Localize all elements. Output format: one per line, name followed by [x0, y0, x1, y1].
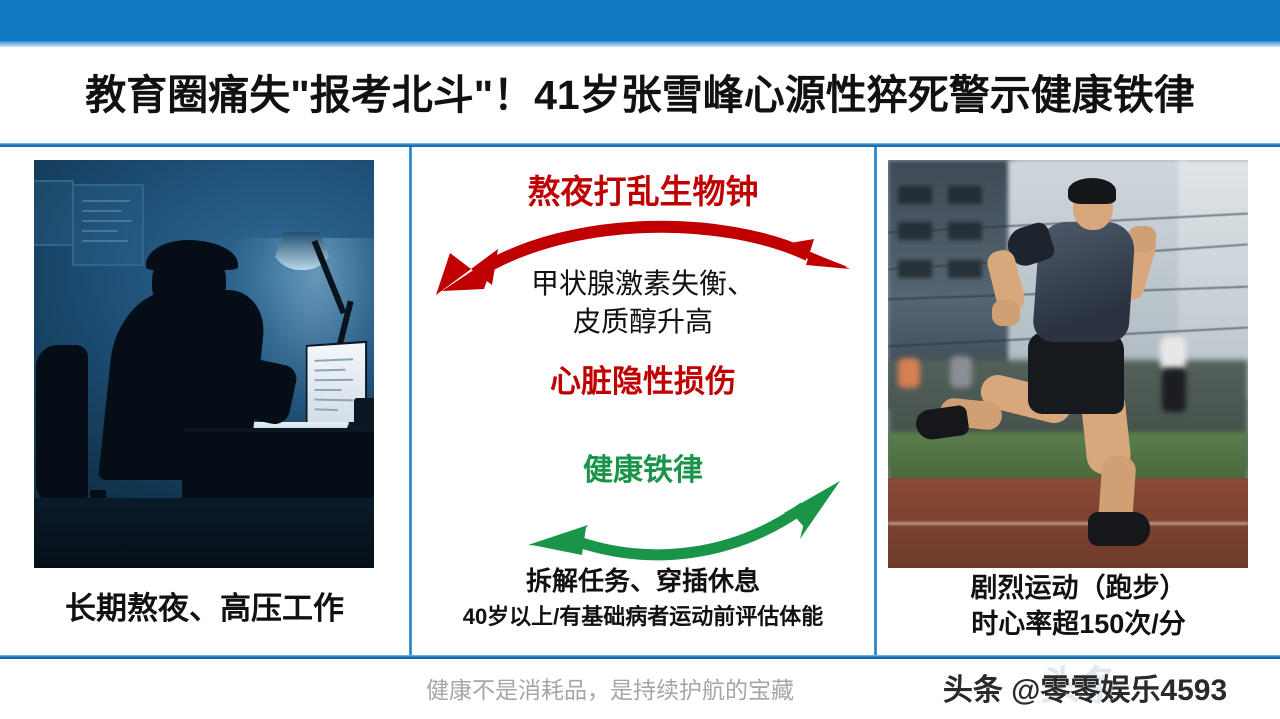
middle-black-note: 甲状腺激素失衡、 皮质醇升高 — [412, 265, 874, 341]
runner-shorts — [1028, 332, 1124, 414]
wall-picture-frame — [72, 184, 144, 266]
panel-middle-diagram: 熬夜打乱生物钟 甲状腺激素失衡、 皮质醇升高 心脏隐性损伤 健康铁律 拆解任务、… — [412, 147, 874, 657]
background-runner — [950, 356, 972, 388]
background-runner — [898, 358, 920, 388]
background-runner — [1160, 336, 1186, 370]
panel-right-exercise: 剧烈运动（跑步） 时心率超150次/分 — [877, 147, 1280, 657]
track-lane-line — [888, 522, 1248, 525]
caption-right-panel: 剧烈运动（跑步） 时心率超150次/分 — [877, 571, 1280, 642]
middle-black-note-line1: 甲状腺激素失衡、 — [412, 265, 874, 303]
content-area: 长期熬夜、高压工作 熬夜打乱生物钟 甲状腺激素失衡、 皮质醇升高 心脏隐性损伤 … — [0, 147, 1280, 657]
caption-left-panel: 长期熬夜、高压工作 — [0, 583, 409, 628]
top-banner-bar — [0, 0, 1280, 47]
headline-band: 教育圈痛失"报考北斗"！41岁张雪峰心源性猝死警示健康铁律 — [0, 47, 1280, 144]
footer-area: 头条 健康不是消耗品，是持续护航的宝藏 头条 @零零娱乐4593 — [0, 659, 1280, 719]
middle-bottom-line1: 拆解任务、穿插休息 — [412, 561, 874, 598]
runner-shoe-front — [1088, 512, 1150, 546]
footer-tagline: 健康不是消耗品，是持续护航的宝藏 — [330, 671, 890, 705]
runner-hair — [1068, 178, 1116, 204]
wall-panel-secondary — [34, 180, 74, 246]
caption-right-line2: 时心率超150次/分 — [877, 607, 1280, 643]
middle-bottom-line2: 40岁以上/有基础病者运动前评估体能 — [412, 599, 874, 631]
desk-mug — [354, 398, 374, 426]
page-title: 教育圈痛失"报考北斗"！41岁张雪峰心源性猝死警示健康铁律 — [85, 75, 1194, 116]
middle-red-title: 熬夜打乱生物钟 — [412, 165, 874, 213]
photo-running-man — [888, 160, 1248, 568]
middle-black-note-line2: 皮质醇升高 — [412, 303, 874, 341]
night-floor — [34, 498, 374, 568]
background-runner-legs — [1162, 368, 1186, 412]
green-curved-double-arrow — [522, 477, 852, 569]
footer-account-watermark: 头条 @零零娱乐4593 — [900, 665, 1270, 709]
middle-red-subtitle: 心脏隐性损伤 — [412, 356, 874, 401]
photo-night-work — [34, 160, 374, 568]
panel-left-overwork: 长期熬夜、高压工作 — [0, 147, 409, 657]
office-chair-back — [36, 345, 88, 507]
caption-right-line1: 剧烈运动（跑步） — [877, 571, 1280, 607]
runner-fist-left — [992, 300, 1020, 326]
